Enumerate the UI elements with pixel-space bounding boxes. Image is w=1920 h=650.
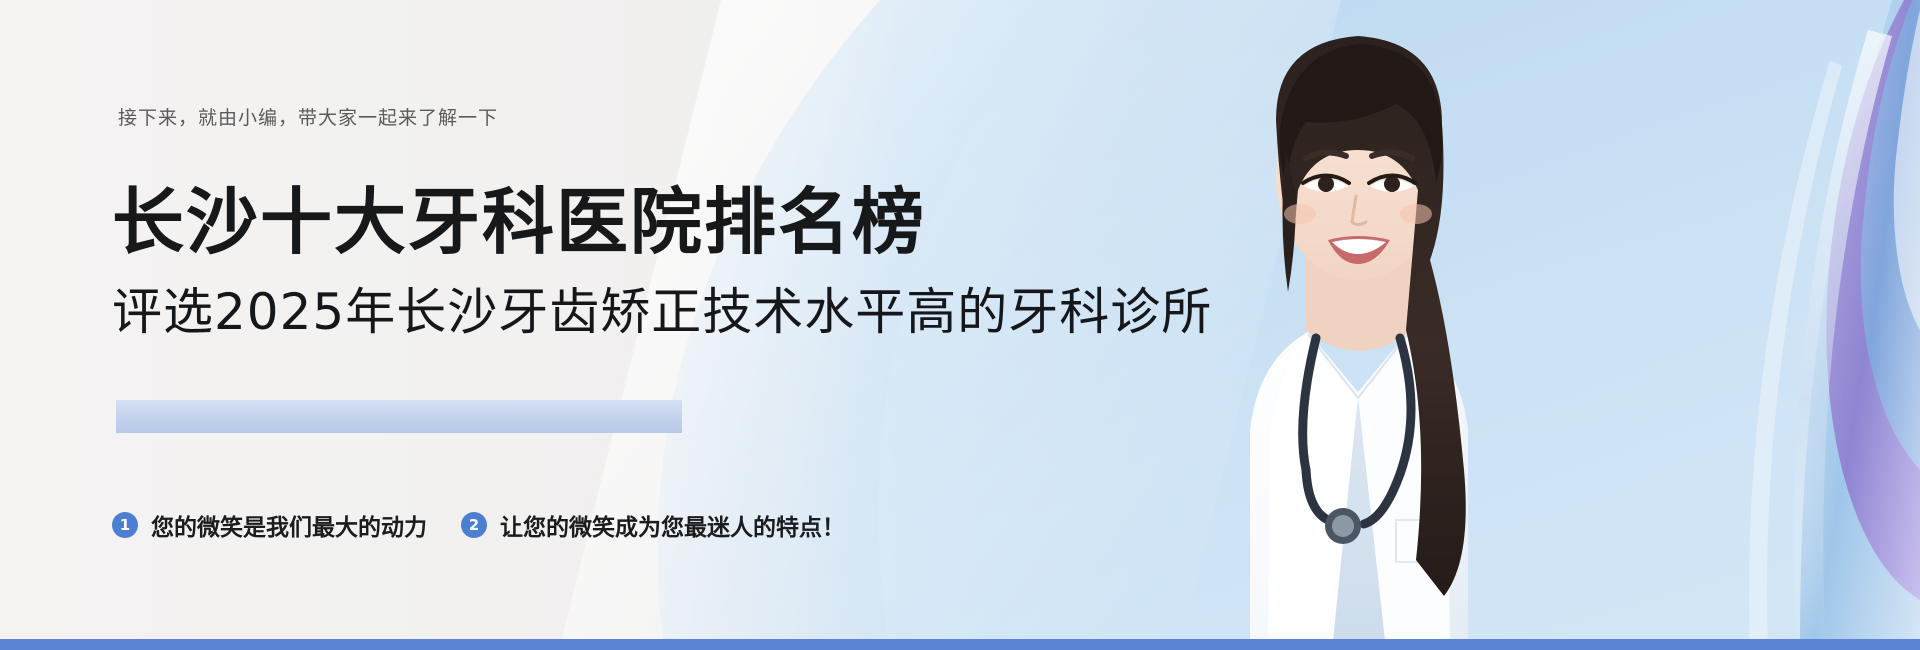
- dental-ranking-banner: 接下来，就由小编，带大家一起来了解一下 长沙十大牙科医院排名榜 评选2025年长…: [0, 0, 1920, 650]
- subtitle-highlight-bar: [116, 400, 682, 433]
- page-title: 长沙十大牙科医院排名榜: [112, 186, 926, 258]
- list-item: 1 您的微笑是我们最大的动力: [112, 508, 427, 542]
- bullet-label: 让您的微笑成为您最迷人的特点！: [500, 508, 845, 542]
- banner-text-content: 接下来，就由小编，带大家一起来了解一下 长沙十大牙科医院排名榜 评选2025年长…: [0, 0, 1100, 650]
- page-subtitle: 评选2025年长沙牙齿矫正技术水平高的牙科诊所: [112, 284, 1212, 340]
- bottom-accent-bar: [0, 639, 1920, 650]
- kicker-text: 接下来，就由小编，带大家一起来了解一下: [118, 103, 498, 130]
- bullet-number-badge: 1: [112, 512, 138, 538]
- bullet-label: 您的微笑是我们最大的动力: [151, 508, 427, 542]
- bullet-list: 1 您的微笑是我们最大的动力 2 让您的微笑成为您最迷人的特点！: [112, 508, 845, 542]
- bullet-number-badge: 2: [461, 512, 487, 538]
- list-item: 2 让您的微笑成为您最迷人的特点！: [461, 508, 845, 542]
